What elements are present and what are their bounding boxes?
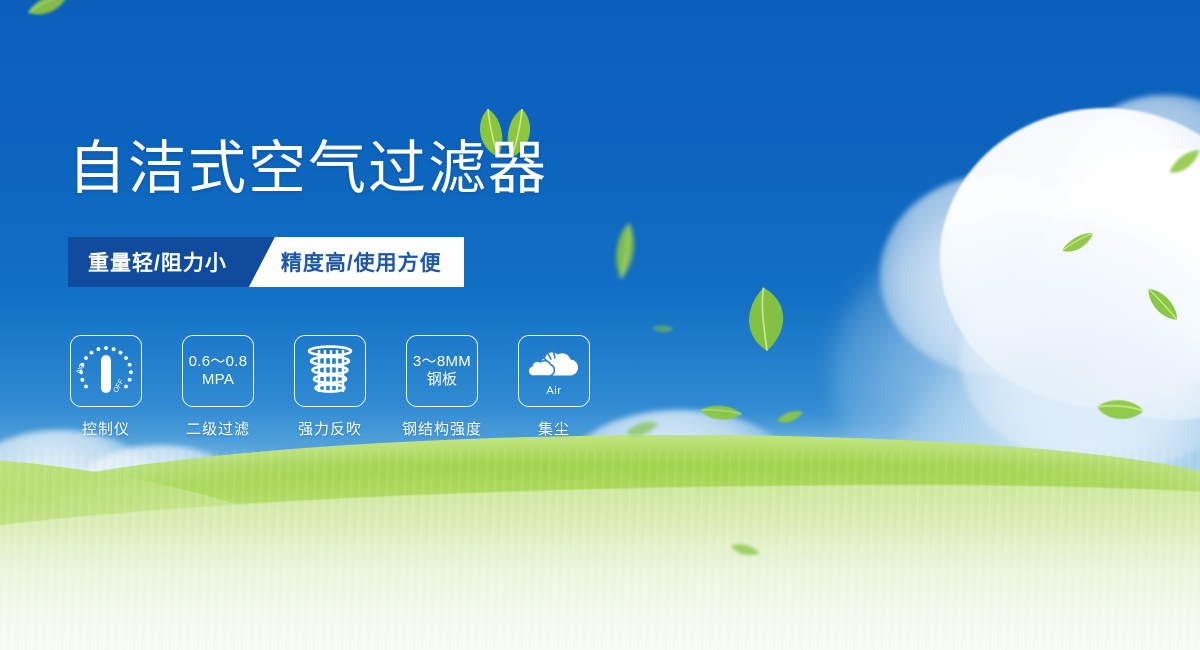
filter-cartridge-icon — [294, 335, 366, 407]
pressure-text-icon: 0.6～0.8 MPA — [182, 335, 254, 407]
feature-item-blowback[interactable]: 强力反吹 — [294, 335, 366, 439]
feature-label-dust: 集尘 — [538, 418, 570, 439]
dial-off-label: OFF — [113, 378, 126, 394]
dial-gauge-icon: NO OFF — [70, 335, 142, 407]
dial-on-label: NO — [76, 362, 87, 375]
feature-label-steel: 钢结构强度 — [402, 418, 482, 439]
feature-label-blowback: 强力反吹 — [298, 418, 362, 439]
page-title: 自洁式空气过滤器 — [68, 140, 548, 198]
steel-value-line2: 钢板 — [427, 371, 458, 389]
pressure-value-line1: 0.6～0.8 — [189, 353, 248, 371]
grass-meadow — [0, 420, 1200, 650]
feature-label-filtration: 二级过滤 — [186, 418, 250, 439]
feature-list: NO OFF 控制仪 0.6～0.8 MPA 二级过滤 — [70, 335, 590, 439]
feature-item-steel[interactable]: 3～8MM 钢板 钢结构强度 — [406, 335, 478, 439]
feature-label-controller: 控制仪 — [82, 418, 130, 439]
subtitle-right: 精度高/使用方便 — [275, 237, 464, 287]
subtitle-bar: 重量轻/阻力小 精度高/使用方便 — [68, 237, 464, 287]
cloud-air-icon: Air — [518, 335, 590, 407]
product-hero-banner: 自洁式空气过滤器 重量轻/阻力小 精度高/使用方便 — [0, 0, 1200, 650]
air-label: Air — [546, 385, 561, 397]
pressure-value-line2: MPA — [202, 371, 234, 389]
subtitle-divider — [249, 237, 275, 287]
floating-leaf-7 — [624, 416, 661, 443]
feature-item-dust[interactable]: Air 集尘 — [518, 335, 590, 439]
steel-value-line1: 3～8MM — [413, 353, 471, 371]
subtitle-left: 重量轻/阻力小 — [68, 237, 249, 287]
steel-plate-text-icon: 3～8MM 钢板 — [406, 335, 478, 407]
ground-highlight — [0, 530, 1200, 650]
feature-item-filtration[interactable]: 0.6～0.8 MPA 二级过滤 — [182, 335, 254, 439]
feature-item-controller[interactable]: NO OFF 控制仪 — [70, 335, 142, 439]
